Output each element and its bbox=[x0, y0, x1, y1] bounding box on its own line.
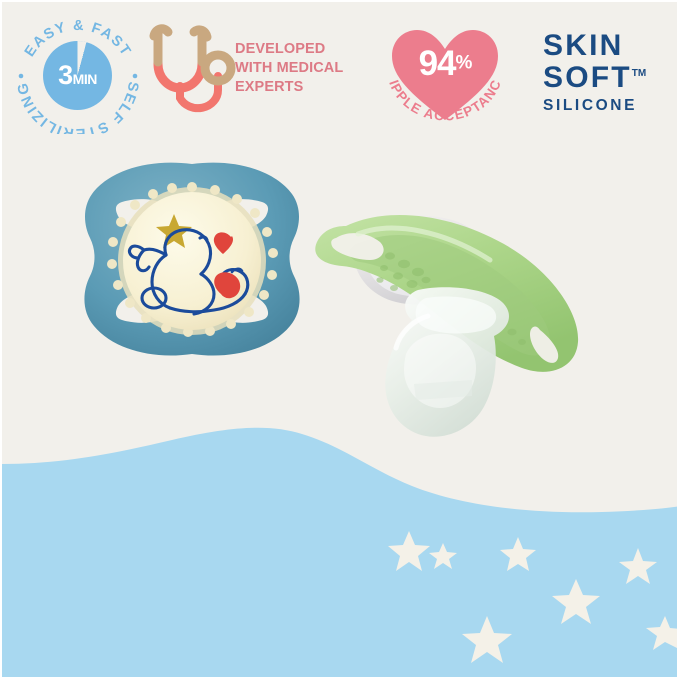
wave-background bbox=[2, 420, 679, 679]
stethoscope-icon bbox=[142, 24, 238, 132]
logo-line-silicone: SILICONE bbox=[543, 97, 646, 115]
timer-duration: 3MIN bbox=[43, 41, 112, 110]
trademark-symbol: TM bbox=[632, 68, 646, 79]
logo-line-skin: SKIN bbox=[543, 30, 646, 62]
medical-line-2: WITH MEDICAL bbox=[235, 59, 363, 78]
medical-line-1: DEVELOPED bbox=[235, 40, 363, 59]
timer-number: 3 bbox=[58, 62, 73, 89]
medical-line-3: EXPERTS bbox=[235, 78, 363, 97]
self-sterilizing-badge: EASY & FAST SELF STERILIZING 3MIN bbox=[16, 16, 140, 134]
glow-in-dark-button bbox=[123, 192, 261, 330]
skin-soft-logo: SKIN SOFTTM SILICONE bbox=[543, 30, 646, 115]
wave-shape bbox=[2, 428, 679, 679]
header-badges-row: EASY & FAST SELF STERILIZING 3MIN bbox=[2, 2, 679, 142]
timer-unit: MIN bbox=[73, 72, 97, 86]
product-image-canvas: EASY & FAST SELF STERILIZING 3MIN bbox=[0, 0, 679, 679]
acceptance-value: 94 bbox=[419, 44, 456, 83]
logo-line-soft: SOFT bbox=[543, 61, 632, 94]
acceptance-value-group: 94% bbox=[380, 44, 510, 84]
medical-experts-text: DEVELOPED WITH MEDICAL EXPERTS bbox=[235, 40, 363, 97]
features-panel: ·Glows in the dark ·Developed with denti… bbox=[2, 420, 679, 679]
silicone-nipple bbox=[385, 287, 509, 436]
green-silicone-pacifier bbox=[315, 215, 578, 437]
acceptance-percent-sign: % bbox=[456, 53, 472, 74]
blue-glow-pacifier bbox=[84, 163, 299, 356]
